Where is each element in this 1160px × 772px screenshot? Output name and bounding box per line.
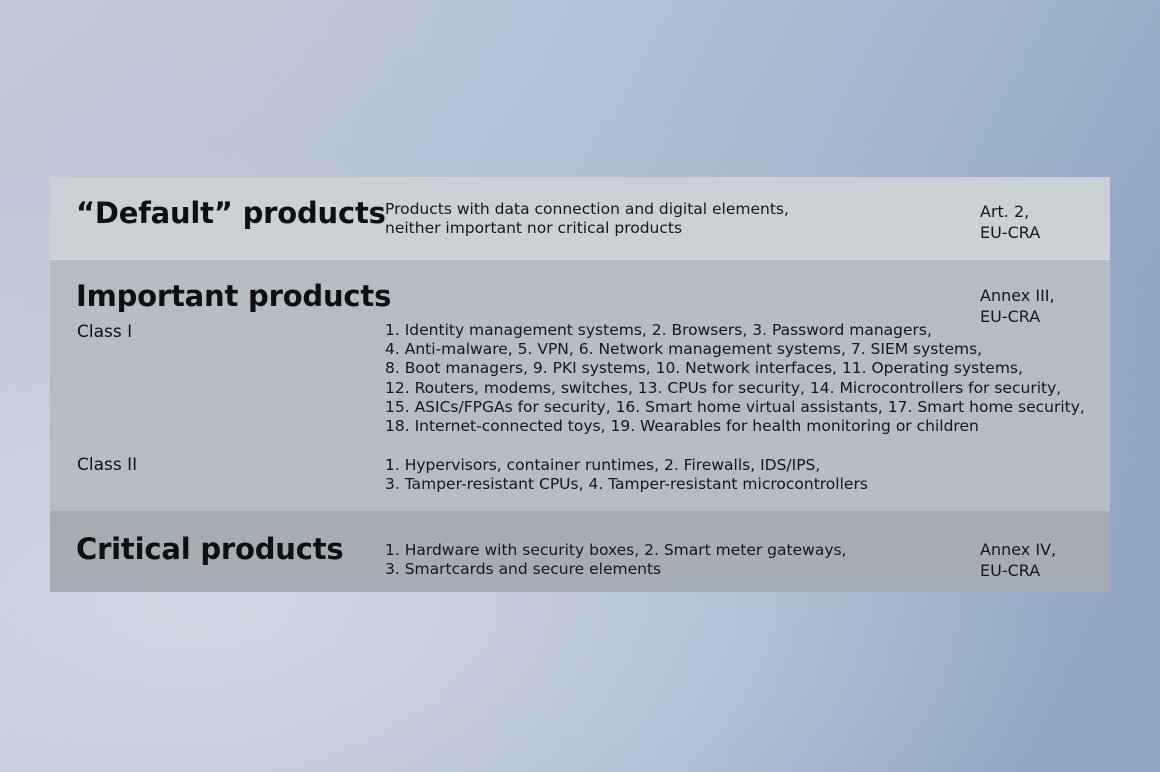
subgroup-label-class-i: Class I [77, 323, 132, 342]
table-row-default-products: “Default” products Products with data co… [50, 177, 1110, 259]
body-line: Products with data connection and digita… [385, 200, 789, 219]
body-line: 3. Smartcards and secure elements [385, 560, 847, 579]
row-body-cell-important: 1. Identity management systems, 2. Brows… [380, 260, 980, 511]
body-line: 3. Tamper-resistant CPUs, 4. Tamper-resi… [385, 475, 868, 494]
table-row-important-products: Important products Class I Class II 1. I… [50, 259, 1110, 511]
reference-line: Annex IV, [980, 539, 1056, 560]
slide-canvas: “Default” products Products with data co… [0, 0, 1160, 772]
product-classification-table: “Default” products Products with data co… [50, 177, 1110, 593]
reference-line: EU-CRA [980, 560, 1056, 581]
reference-line: EU-CRA [980, 222, 1040, 243]
row-reference-default: Art. 2, EU-CRA [980, 201, 1040, 243]
row-reference-cell-important: Annex III, EU-CRA [980, 260, 1110, 511]
row-body-cell-critical: 1. Hardware with security boxes, 2. Smar… [380, 511, 980, 592]
body-line: neither important nor critical products [385, 219, 789, 238]
row-title-cell-default: “Default” products [50, 177, 380, 259]
subgroup-label-class-ii: Class II [77, 456, 137, 475]
table-row-critical-products: Critical products 1. Hardware with secur… [50, 511, 1110, 592]
row-reference-cell-critical: Annex IV, EU-CRA [980, 511, 1110, 592]
row-reference-critical: Annex IV, EU-CRA [980, 539, 1056, 581]
row-title-important: Important products [76, 281, 391, 311]
body-line: 1. Hypervisors, container runtimes, 2. F… [385, 456, 868, 475]
row-title-cell-critical: Critical products [50, 511, 380, 592]
row-reference-cell-default: Art. 2, EU-CRA [980, 177, 1110, 259]
body-line: 1. Hardware with security boxes, 2. Smar… [385, 541, 847, 560]
reference-line: EU-CRA [980, 306, 1055, 327]
row-title-cell-important: Important products Class I Class II [50, 260, 380, 511]
row-body-critical: 1. Hardware with security boxes, 2. Smar… [385, 541, 847, 579]
row-title-critical: Critical products [76, 534, 343, 564]
row-body-default: Products with data connection and digita… [385, 200, 789, 238]
row-body-cell-default: Products with data connection and digita… [380, 177, 980, 259]
reference-line: Annex III, [980, 285, 1055, 306]
subgroup-list-class-ii: 1. Hypervisors, container runtimes, 2. F… [385, 456, 868, 494]
reference-line: Art. 2, [980, 201, 1040, 222]
row-title-default: “Default” products [76, 198, 386, 228]
row-reference-important: Annex III, EU-CRA [980, 285, 1055, 327]
